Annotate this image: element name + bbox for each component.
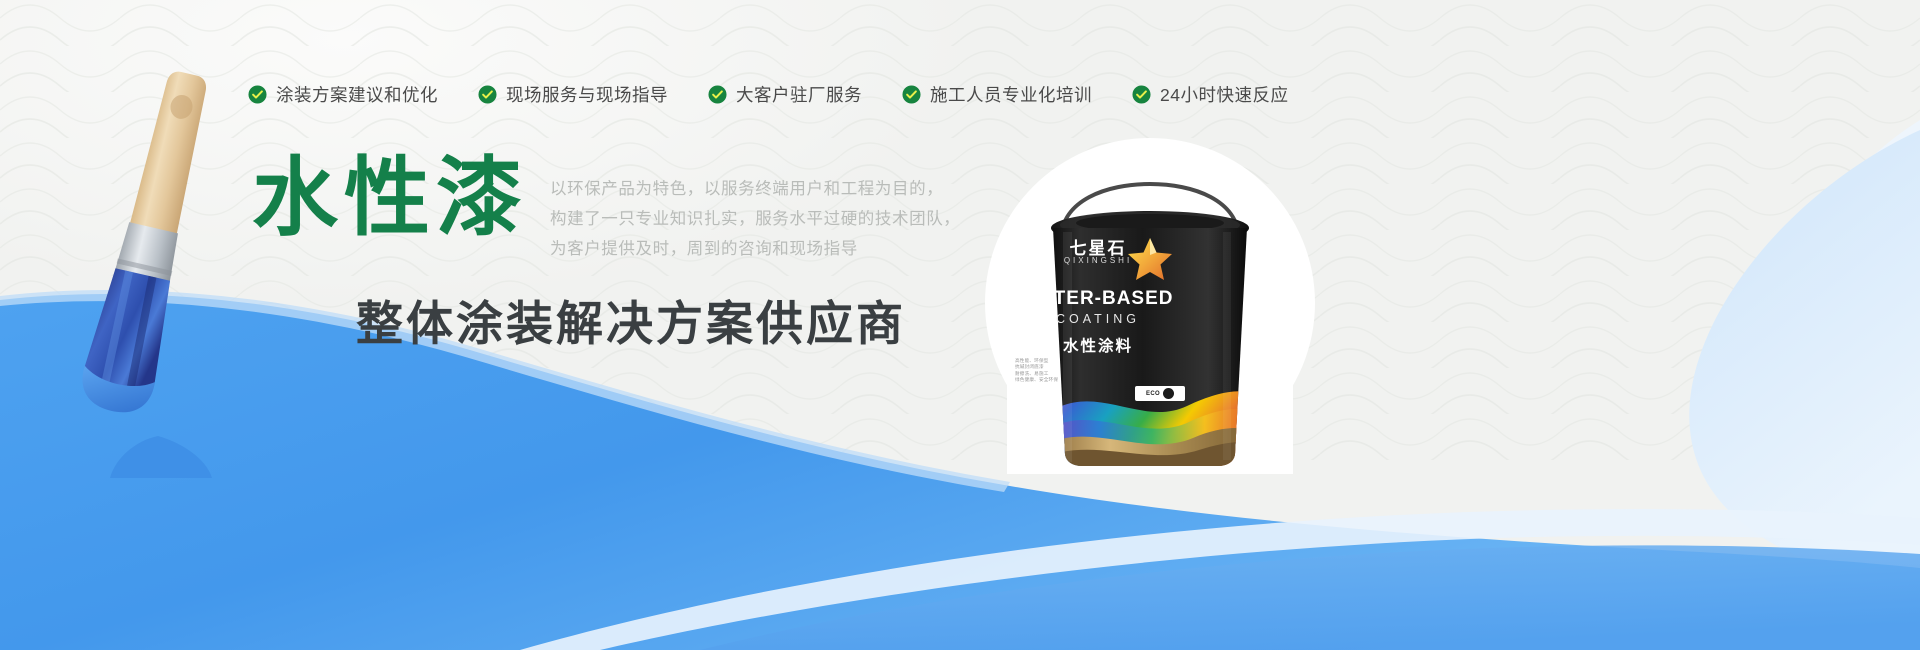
feature-label: 24小时快速反应: [1160, 82, 1288, 107]
product-showcase[interactable]: 七星石 QIXINGSHI WATER-BASED COATING 水性涂料 高…: [985, 138, 1315, 468]
feature-label: 涂装方案建议和优化: [276, 82, 438, 107]
feature-list: 涂装方案建议和优化 现场服务与现场指导 大客户驻厂服务 施工人员专业化培训: [248, 82, 1288, 107]
feature-item-0[interactable]: 涂装方案建议和优化: [248, 82, 438, 107]
check-circle-icon: [902, 85, 921, 104]
feature-label: 大客户驻厂服务: [736, 82, 862, 107]
check-circle-icon: [1132, 85, 1151, 104]
hero-banner: 涂装方案建议和优化 现场服务与现场指导 大客户驻厂服务 施工人员专业化培训: [0, 0, 1920, 650]
feature-label: 施工人员专业化培训: [930, 82, 1092, 107]
page-subtitle: 整体涂装解决方案供应商: [356, 285, 906, 354]
paint-brush-illustration: [40, 60, 260, 480]
bucket-label-group: 七星石 QIXINGSHI WATER-BASED COATING 水性涂料 高…: [985, 138, 1211, 428]
product-name-en-line2: COATING: [985, 312, 1211, 326]
eco-dot-icon: [1163, 388, 1174, 399]
feature-item-3[interactable]: 施工人员专业化培训: [902, 82, 1092, 107]
eco-badge-label: ECO: [1146, 391, 1160, 397]
description-block: 以环保产品为特色，以服务终端用户和工程为目的， 构建了一只专业知识扎实，服务水平…: [550, 152, 960, 264]
description-line-2: 构建了一只专业知识扎实，服务水平过硬的技术团队，: [550, 204, 960, 234]
check-circle-icon: [248, 85, 267, 104]
product-name-en-line1: WATER-BASED: [985, 288, 1211, 310]
check-circle-icon: [478, 85, 497, 104]
page-title: 水性漆: [252, 152, 528, 244]
headline-row: 水性漆 以环保产品为特色，以服务终端用户和工程为目的， 构建了一只专业知识扎实，…: [252, 152, 960, 264]
feature-item-2[interactable]: 大客户驻厂服务: [708, 82, 862, 107]
check-circle-icon: [708, 85, 727, 104]
feature-label: 现场服务与现场指导: [506, 82, 668, 107]
product-name-cn: 水性涂料: [985, 334, 1211, 356]
brand-name-en: QIXINGSHI: [985, 256, 1211, 265]
product-fineprint: 高性能、环保型 抗碱封闭底漆 耐擦洗、易施工 绿色健康、安全环保: [1015, 358, 1135, 384]
description-line-1: 以环保产品为特色，以服务终端用户和工程为目的，: [550, 174, 960, 204]
eco-badge: ECO: [1135, 386, 1185, 401]
feature-item-1[interactable]: 现场服务与现场指导: [478, 82, 668, 107]
description-line-3: 为客户提供及时，周到的咨询和现场指导: [550, 234, 960, 264]
feature-item-4[interactable]: 24小时快速反应: [1132, 82, 1288, 107]
